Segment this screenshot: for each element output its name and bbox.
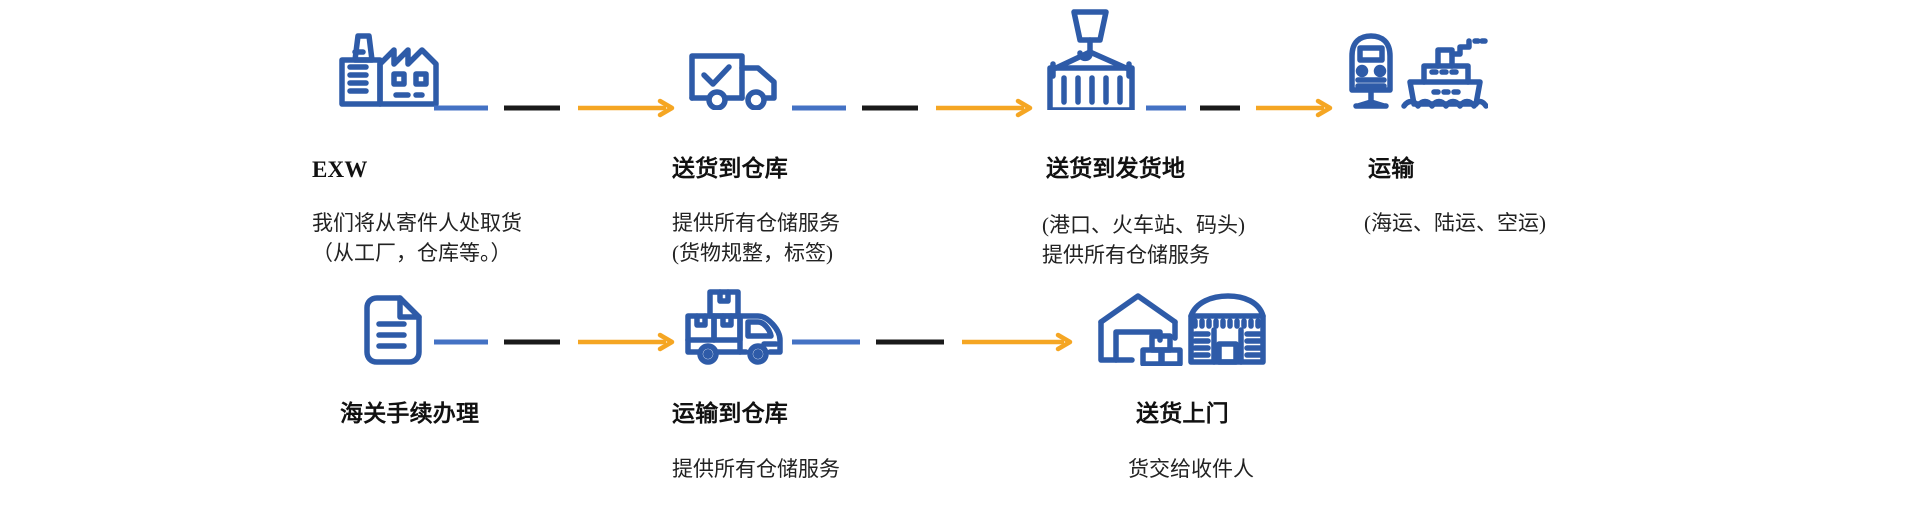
step-desc-delivery-to-port: (港口、火车站、码头) 提供所有仓储服务 <box>1042 211 1245 271</box>
step-title-exw: EXW <box>312 156 368 185</box>
step-title-customs: 海关手续办理 <box>340 400 479 429</box>
factory-icon <box>336 30 446 108</box>
delivery-truck-boxes-icon <box>682 288 786 366</box>
truck-check-icon <box>686 48 784 110</box>
step-title-transport: 运输 <box>1368 155 1414 184</box>
connector-2-1 <box>432 330 682 354</box>
step-title-transport-to-warehouse: 运输到仓库 <box>672 400 788 429</box>
connector-1-1 <box>432 96 682 120</box>
logistics-flow-diagram: EXW 我们将从寄件人处取货 （从工厂，仓库等。） 送货到仓库 提供所有仓储服务… <box>0 0 1920 523</box>
step-desc-transport-to-warehouse: 提供所有仓储服务 <box>672 455 840 485</box>
step-desc-delivery-to-warehouse: 提供所有仓储服务 (货物规整，标签) <box>672 209 840 269</box>
container-crane-icon <box>1040 6 1144 110</box>
step-desc-exw: 我们将从寄件人处取货 （从工厂，仓库等。） <box>312 209 522 269</box>
train-ship-icon <box>1338 14 1488 110</box>
step-desc-transport: (海运、陆运、空运) <box>1364 209 1546 239</box>
document-icon <box>362 294 424 366</box>
step-title-door-delivery: 送货上门 <box>1136 400 1229 429</box>
step-desc-door-delivery: 货交给收件人 <box>1128 455 1254 485</box>
warehouse-buildings-icon <box>1096 290 1266 366</box>
step-title-delivery-to-warehouse: 送货到仓库 <box>672 155 788 184</box>
connector-2-2 <box>790 330 1080 354</box>
step-title-delivery-to-port: 送货到发货地 <box>1046 155 1185 184</box>
connector-1-3 <box>1144 96 1340 120</box>
connector-1-2 <box>790 96 1040 120</box>
